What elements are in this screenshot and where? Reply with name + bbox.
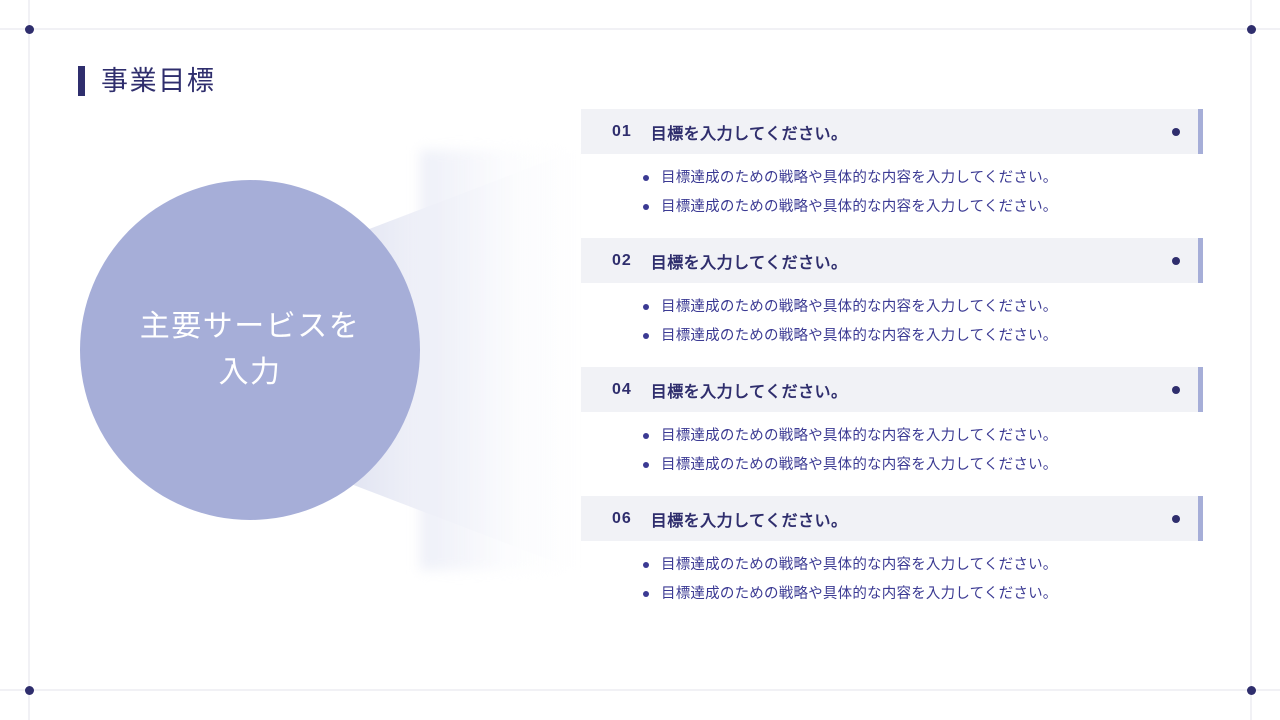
goal-point: 目標達成のための戦略や具体的な内容を入力してください。 [643,558,1202,573]
goal-point-list: 目標達成のための戦略や具体的な内容を入力してください。 目標達成のための戦略や具… [581,541,1202,601]
goal-title: 目標を入力してください。 [651,378,848,402]
goal-accent-bar [1198,367,1203,412]
title-label: 事業目標 [101,68,215,95]
goal-point: 目標達成のための戦略や具体的な内容を入力してください。 [643,300,1202,315]
beam-glow-graphic [420,150,580,570]
goal-point: 目標達成のための戦略や具体的な内容を入力してください。 [643,587,1202,602]
goal-number: 02 [612,252,632,270]
guide-line-top [0,28,1280,30]
slide-canvas: 事業目標 主要サービスを 入力 01 目標を入力してください。 目標達成のための… [0,0,1280,720]
title-accent-bar [78,66,85,96]
goal-number: 06 [612,510,632,528]
goal-accent-bar [1198,496,1203,541]
goal-title: 目標を入力してください。 [651,120,848,144]
goal-block: 04 目標を入力してください。 目標達成のための戦略や具体的な内容を入力してくだ… [581,367,1202,472]
goal-block: 06 目標を入力してください。 目標達成のための戦略や具体的な内容を入力してくだ… [581,496,1202,601]
goal-marker-dot [1172,257,1180,265]
goal-title: 目標を入力してください。 [651,249,848,273]
goal-header[interactable]: 01 目標を入力してください。 [581,109,1202,154]
registration-dot-top-right [1247,25,1256,34]
guide-line-bottom [0,689,1280,691]
goal-point: 目標達成のための戦略や具体的な内容を入力してください。 [643,458,1202,473]
guide-line-right [1250,0,1252,720]
main-service-circle: 主要サービスを 入力 [80,180,420,520]
registration-dot-bottom-right [1247,686,1256,695]
goal-block: 02 目標を入力してください。 目標達成のための戦略や具体的な内容を入力してくだ… [581,238,1202,343]
goal-header[interactable]: 06 目標を入力してください。 [581,496,1202,541]
goal-marker-dot [1172,128,1180,136]
registration-dot-bottom-left [25,686,34,695]
goal-number: 04 [612,381,632,399]
goal-marker-dot [1172,386,1180,394]
goal-point-list: 目標達成のための戦略や具体的な内容を入力してください。 目標達成のための戦略や具… [581,283,1202,343]
goal-point: 目標達成のための戦略や具体的な内容を入力してください。 [643,429,1202,444]
goal-point: 目標達成のための戦略や具体的な内容を入力してください。 [643,171,1202,186]
goal-number: 01 [612,123,632,141]
goal-point: 目標達成のための戦略や具体的な内容を入力してください。 [643,329,1202,344]
goal-marker-dot [1172,515,1180,523]
goal-point-list: 目標達成のための戦略や具体的な内容を入力してください。 目標達成のための戦略や具… [581,412,1202,472]
goal-title: 目標を入力してください。 [651,507,848,531]
goal-block: 01 目標を入力してください。 目標達成のための戦略や具体的な内容を入力してくだ… [581,109,1202,214]
goal-accent-bar [1198,238,1203,283]
goal-accent-bar [1198,109,1203,154]
page-title: 事業目標 [78,66,215,96]
goal-list: 01 目標を入力してください。 目標達成のための戦略や具体的な内容を入力してくだ… [581,109,1202,601]
main-service-label: 主要サービスを 入力 [106,304,395,395]
goal-header[interactable]: 04 目標を入力してください。 [581,367,1202,412]
goal-point: 目標達成のための戦略や具体的な内容を入力してください。 [643,200,1202,215]
guide-line-left [28,0,30,720]
goal-header[interactable]: 02 目標を入力してください。 [581,238,1202,283]
goal-point-list: 目標達成のための戦略や具体的な内容を入力してください。 目標達成のための戦略や具… [581,154,1202,214]
registration-dot-top-left [25,25,34,34]
